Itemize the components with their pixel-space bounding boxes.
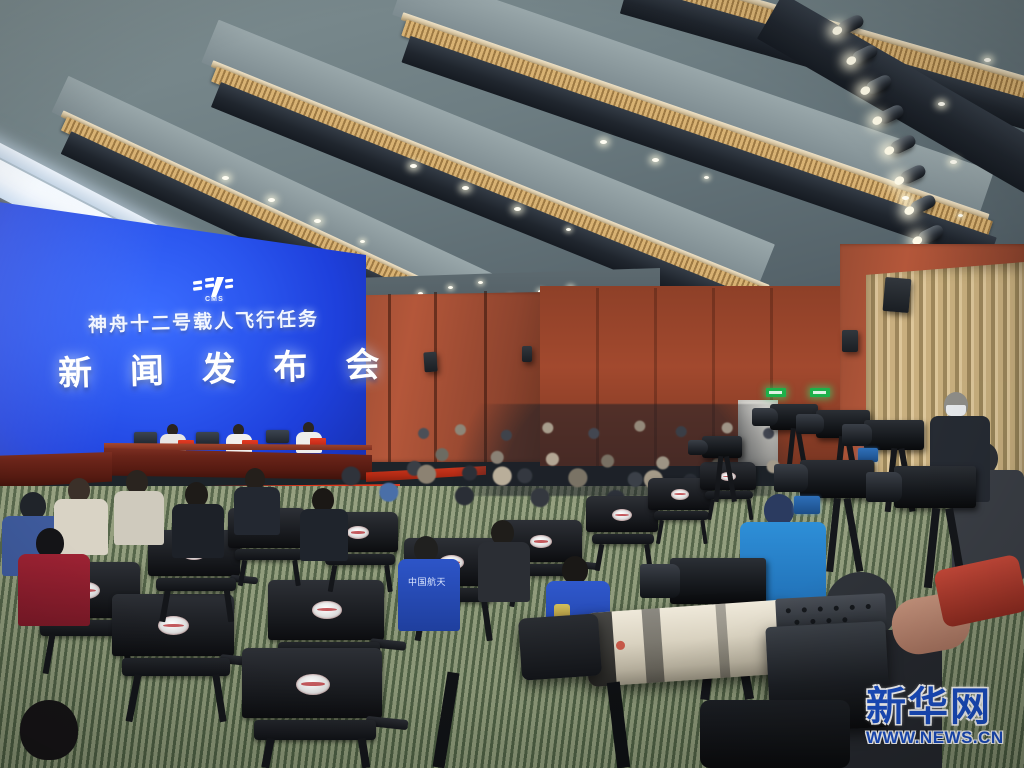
ceiling-downlight <box>566 228 571 231</box>
ceiling-downlight <box>314 219 321 223</box>
podium-monitor <box>196 432 219 445</box>
ceiling-downlight <box>600 140 607 144</box>
watermark-brand: 新华网 <box>866 688 1012 726</box>
ceiling-downlight <box>448 286 453 289</box>
wall-speaker <box>842 330 858 352</box>
ceiling-downlight <box>984 58 991 62</box>
exit-sign <box>766 388 786 397</box>
ceiling-downlight <box>478 281 483 284</box>
cms-logo-mark <box>191 276 243 298</box>
wall-speaker <box>522 346 532 362</box>
ceiling-downlight <box>514 207 521 211</box>
podium-monitor <box>134 432 157 445</box>
equipment-case <box>700 700 850 768</box>
ceiling-downlight <box>902 196 909 200</box>
ceiling-downlight <box>360 240 365 243</box>
ceiling-downlight <box>222 176 229 180</box>
ceiling-downlight <box>938 102 945 106</box>
ceiling-downlight <box>268 198 275 202</box>
audience-chair <box>242 648 382 768</box>
screen-headline-large: 新 闻 发 布 会 <box>57 338 358 395</box>
ceiling-downlight <box>462 186 469 190</box>
ceiling-downlight <box>958 214 963 217</box>
ceiling-downlight <box>652 158 659 162</box>
cms-logo: CMS <box>185 276 255 310</box>
stage-front-left <box>0 452 112 488</box>
wall-speaker <box>423 352 437 373</box>
ceiling-downlight <box>950 160 957 164</box>
xinhua-watermark: 新华网 WWW.NEWS.CN <box>866 688 1012 748</box>
lens-indicator-dot <box>616 641 626 651</box>
exit-sign <box>810 388 830 397</box>
podium-monitor <box>266 430 289 443</box>
watermark-url: WWW.NEWS.CN <box>866 728 1012 748</box>
lens-hood <box>518 613 602 680</box>
ceiling-downlight <box>410 164 417 168</box>
ceiling-downlight <box>704 176 709 179</box>
jersey-text: 中国航天 <box>408 578 448 590</box>
ceiling-speaker <box>883 277 912 313</box>
cms-logo-text: CMS <box>205 296 224 303</box>
press-conference-photo: CMS 神舟十二号载人飞行任务 新 闻 发 布 会 <box>0 0 1024 768</box>
